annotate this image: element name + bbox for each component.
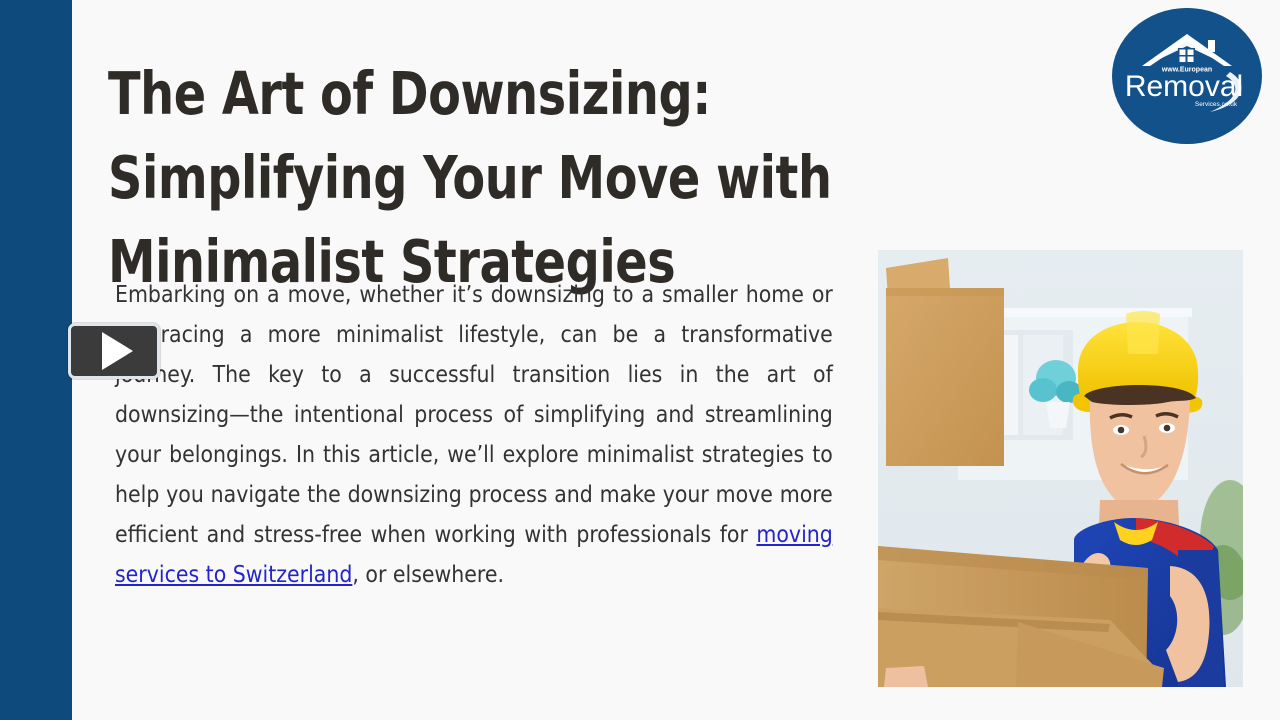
paragraph-text-after-link: , or elsewhere.: [352, 560, 504, 588]
play-video-button[interactable]: [68, 323, 160, 379]
svg-text:Services.co.uk: Services.co.uk: [1195, 101, 1238, 108]
paragraph-text-before-link: Embarking on a move, whether it’s downsi…: [115, 280, 833, 548]
play-icon: [102, 332, 133, 370]
left-accent-bar: [0, 0, 72, 720]
logo-artwork: www.European Removal Services.co.uk: [1112, 8, 1262, 144]
body-paragraph: Embarking on a move, whether it’s downsi…: [115, 274, 833, 594]
hero-photo: [878, 250, 1243, 687]
brand-logo: www.European Removal Services.co.uk: [1112, 8, 1262, 144]
mover-photo-svg: [878, 250, 1243, 687]
logo-svg: www.European Removal Services.co.uk: [1112, 8, 1262, 144]
svg-text:Removal: Removal: [1125, 70, 1243, 103]
slide-title: The Art of Downsizing: Simplifying Your …: [108, 52, 864, 303]
presentation-slide: www.European Removal Services.co.uk The …: [0, 0, 1280, 720]
